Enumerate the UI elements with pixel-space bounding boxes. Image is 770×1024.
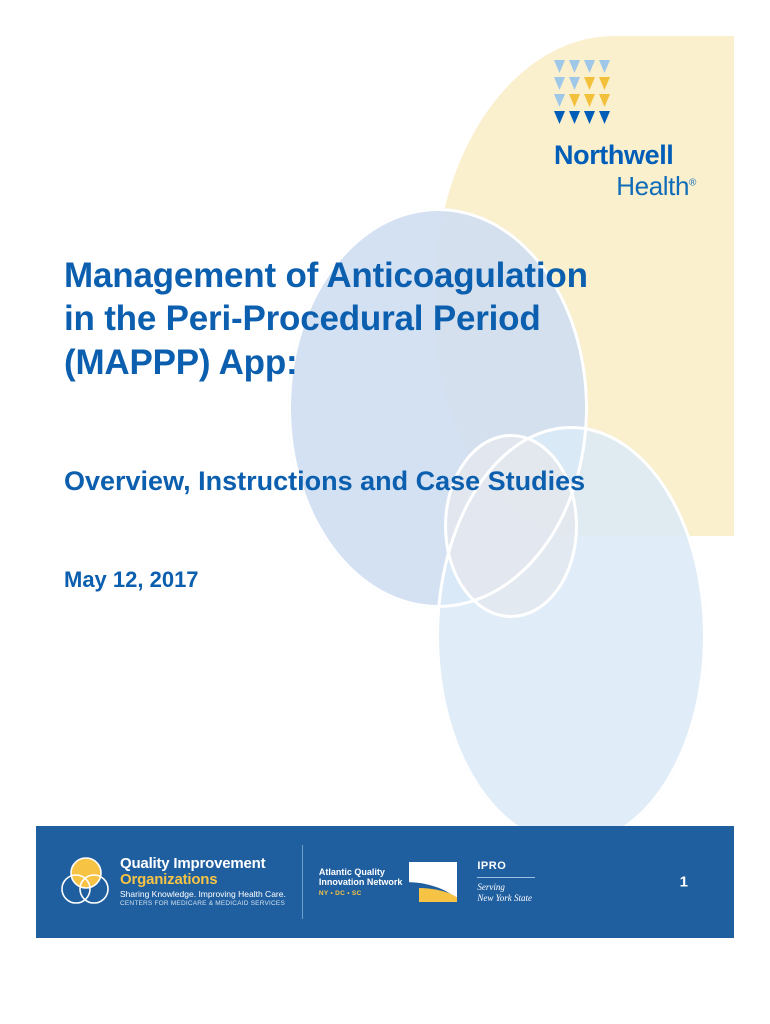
- title-block: Management of Anticoagulation in the Per…: [64, 254, 694, 593]
- ipro-name: IPRO: [477, 860, 535, 873]
- ipro-rule: [477, 877, 535, 878]
- page-title-line-2: in the Peri-Procedural Period: [64, 297, 694, 340]
- page-title-line-3: (MAPPP) App:: [64, 341, 694, 384]
- northwell-wordmark: Northwell Health®: [554, 142, 732, 199]
- qio-text: Quality Improvement Organizations Sharin…: [120, 856, 286, 908]
- aqin-logo: Atlantic Quality Innovation Network NY •…: [319, 862, 458, 902]
- aqin-regions: NY • DC • SC: [319, 890, 403, 897]
- aqin-line-1: Atlantic Quality: [319, 867, 403, 877]
- northwell-name: Northwell: [554, 140, 673, 170]
- page-title-line-1: Management of Anticoagulation: [64, 254, 694, 297]
- northwell-chevron-icon: [554, 60, 624, 142]
- aqin-wave-icon: [409, 862, 457, 902]
- page-number: 1: [680, 874, 688, 891]
- presentation-date: May 12, 2017: [64, 567, 694, 593]
- aqin-line-2: Innovation Network: [319, 877, 403, 887]
- qio-tagline: Sharing Knowledge. Improving Health Care…: [120, 890, 286, 899]
- aqin-text: Atlantic Quality Innovation Network NY •…: [319, 867, 403, 897]
- qio-line-2: Organizations: [120, 872, 286, 888]
- ipro-serving-label: Serving: [477, 882, 535, 893]
- registered-mark-icon: ®: [689, 177, 696, 188]
- page-subtitle: Overview, Instructions and Case Studies: [64, 466, 694, 497]
- footer-divider-1: [302, 845, 303, 919]
- qio-line-1: Quality Improvement: [120, 856, 286, 872]
- northwell-logo: Northwell Health®: [542, 60, 732, 199]
- ipro-serving-region: New York State: [477, 893, 535, 904]
- northwell-subname: Health®: [554, 173, 696, 199]
- qio-logo: Quality Improvement Organizations Sharin…: [60, 856, 286, 908]
- qio-agency: CENTERS FOR MEDICARE & MEDICAID SERVICES: [120, 901, 286, 908]
- ipro-logo: IPRO Serving New York State: [477, 860, 535, 904]
- qio-circles-icon: [60, 856, 112, 908]
- footer-bar: Quality Improvement Organizations Sharin…: [36, 826, 734, 938]
- slide-canvas: Northwell Health® Management of Anticoag…: [36, 36, 734, 964]
